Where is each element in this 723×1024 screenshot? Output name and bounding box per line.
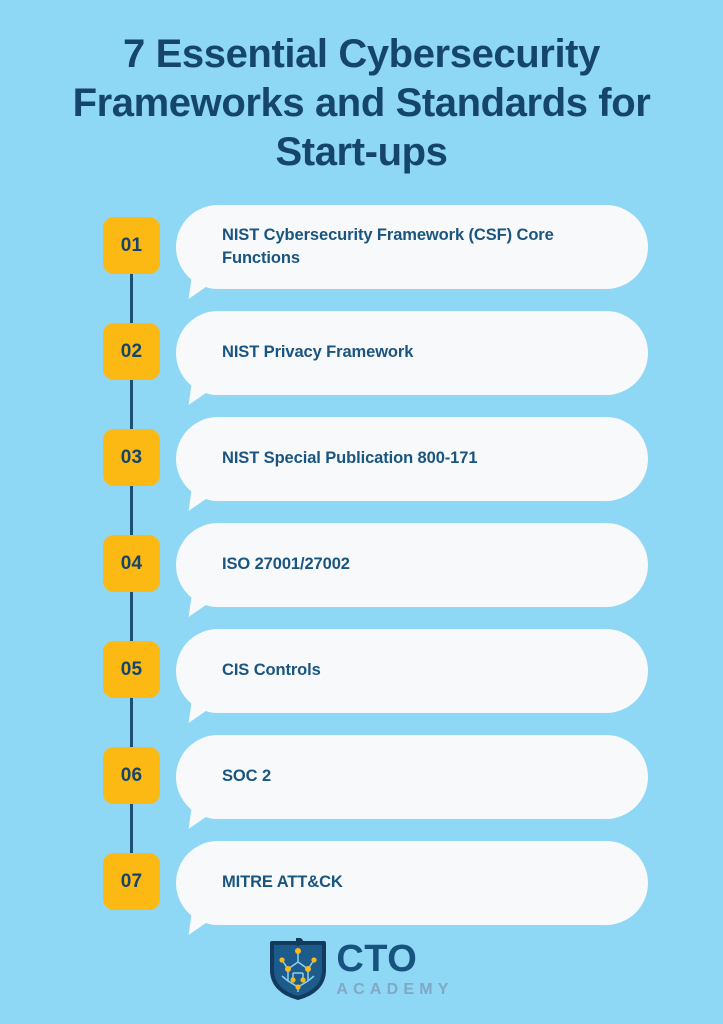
timeline-item: 05 CIS Controls [0,609,723,713]
step-label: ISO 27001/27002 [222,553,350,576]
step-label: NIST Privacy Framework [222,341,413,364]
logo-primary-text: CTO [336,940,453,978]
logo-wordmark: CTO ACADEMY [336,940,453,998]
step-card: NIST Cybersecurity Framework (CSF) Core … [176,205,648,289]
step-number-badge: 03 [103,429,160,486]
step-card: NIST Privacy Framework [176,311,648,395]
step-number-badge: 02 [103,323,160,380]
step-label: MITRE ATT&CK [222,871,343,894]
step-number-badge: 04 [103,535,160,592]
shield-circuit-icon [269,938,327,1000]
step-number-badge: 06 [103,747,160,804]
logo-secondary-text: ACADEMY [336,982,453,998]
step-number-badge: 01 [103,217,160,274]
step-card: MITRE ATT&CK [176,841,648,925]
step-label: CIS Controls [222,659,321,682]
step-label: NIST Cybersecurity Framework (CSF) Core … [222,224,622,271]
timeline-item: 01 NIST Cybersecurity Framework (CSF) Co… [0,185,723,289]
timeline-item: 04 ISO 27001/27002 [0,503,723,607]
timeline: 01 NIST Cybersecurity Framework (CSF) Co… [0,185,723,925]
timeline-item: 07 MITRE ATT&CK [0,821,723,925]
step-card: ISO 27001/27002 [176,523,648,607]
step-label: NIST Special Publication 800-171 [222,447,477,470]
page-title: 7 Essential Cybersecurity Frameworks and… [60,30,663,176]
step-card: CIS Controls [176,629,648,713]
step-card: NIST Special Publication 800-171 [176,417,648,501]
card-tail [189,915,218,935]
step-number-badge: 05 [103,641,160,698]
timeline-item: 02 NIST Privacy Framework [0,291,723,395]
step-card: SOC 2 [176,735,648,819]
brand-logo: CTO ACADEMY [0,938,723,1000]
step-number-badge: 07 [103,853,160,910]
timeline-item: 03 NIST Special Publication 800-171 [0,397,723,501]
timeline-item: 06 SOC 2 [0,715,723,819]
step-label: SOC 2 [222,765,271,788]
